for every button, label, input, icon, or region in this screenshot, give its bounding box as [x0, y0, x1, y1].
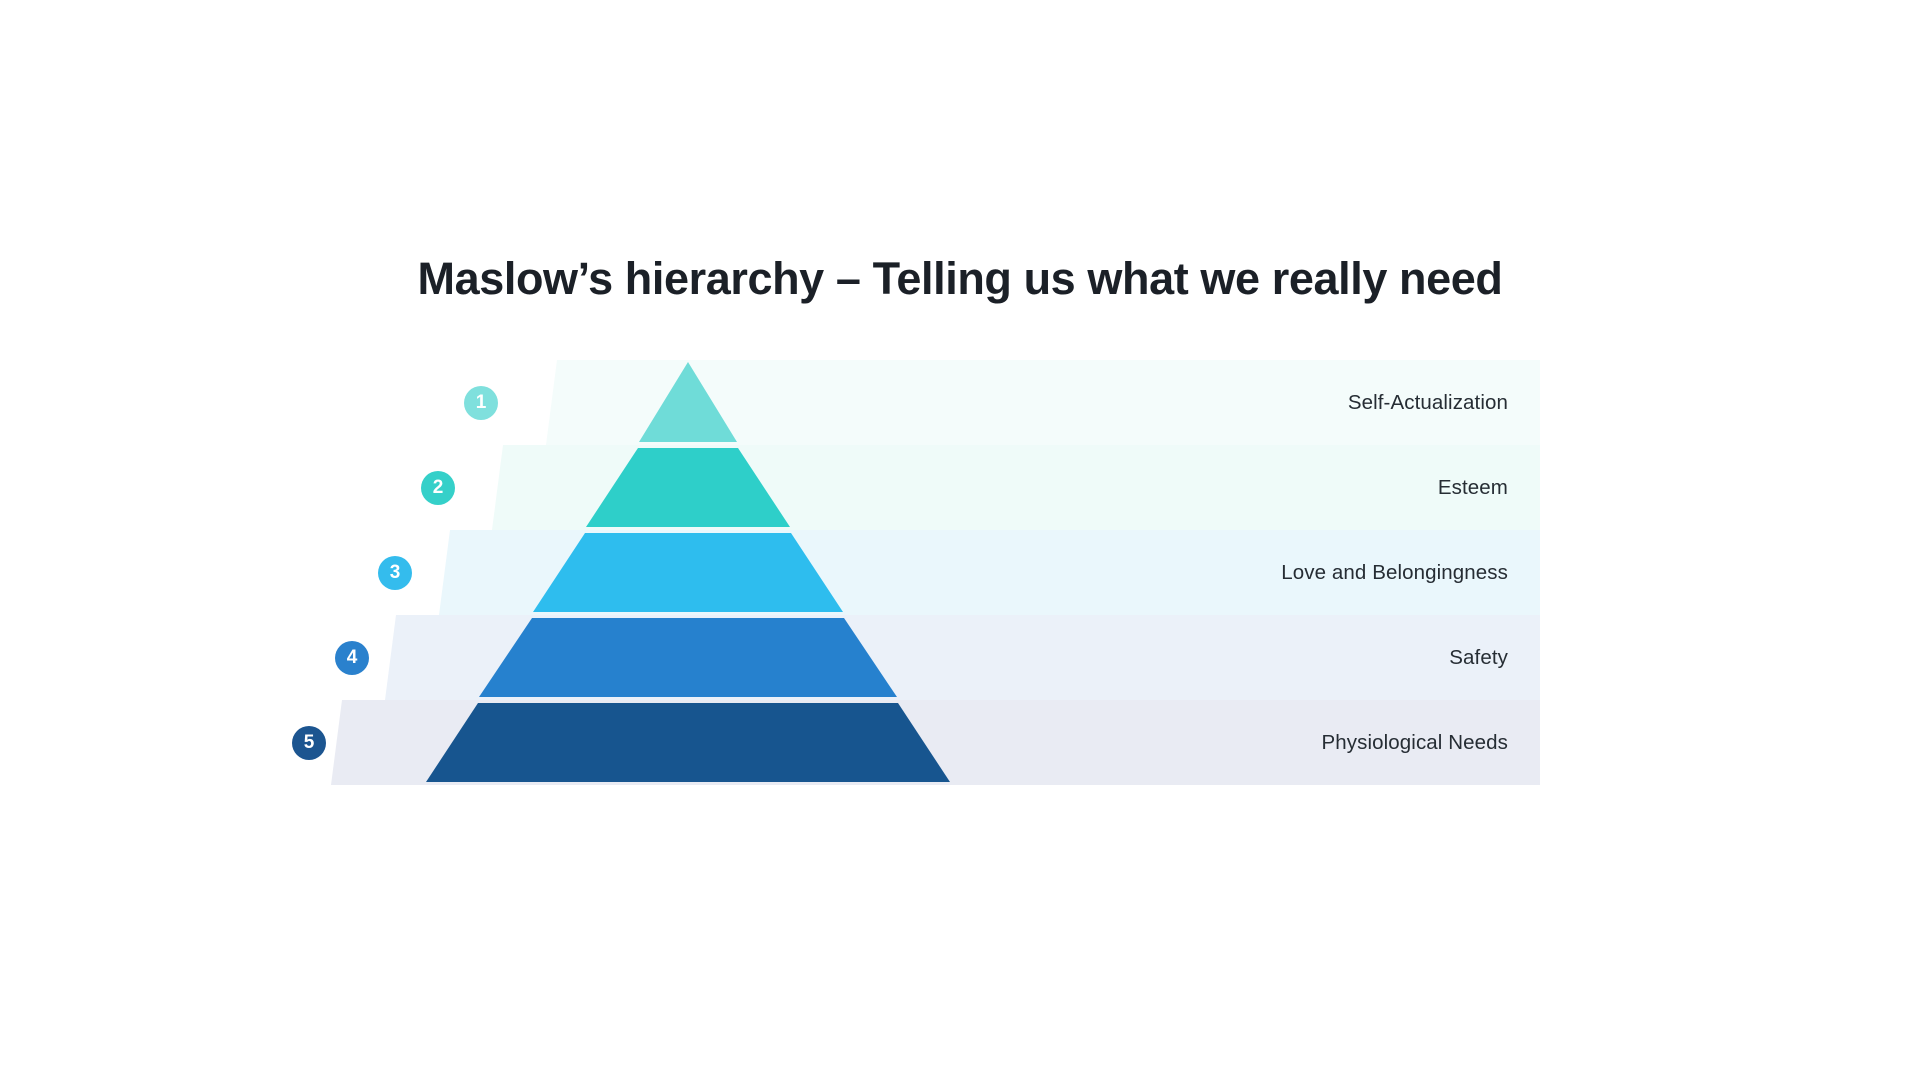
pyramid-level-5[interactable]: 5 Physiological Needs [300, 700, 1550, 785]
running-person-icon [668, 383, 708, 423]
level-2-rank-badge: 2 [421, 471, 455, 505]
pyramid-level-4[interactable]: 4 Safety [300, 615, 1550, 700]
pyramid-level-3[interactable]: 3 Love and Belongingness [300, 530, 1550, 615]
maslow-pyramid-diagram: 1 Self-Actualization 2 [300, 360, 1550, 820]
thumbs-up-icon [668, 468, 708, 508]
level-4-rank-number: 4 [347, 648, 358, 667]
level-2-rank-number: 2 [433, 478, 444, 497]
plate-cutlery-icon [668, 723, 708, 763]
home-icon [668, 638, 708, 678]
pyramid-level-2[interactable]: 2 Esteem [300, 445, 1550, 530]
level-4-rank-badge: 4 [335, 641, 369, 675]
level-1-rank-badge: 1 [464, 386, 498, 420]
level-4-label: Safety [1449, 646, 1508, 670]
level-1-rank-number: 1 [476, 393, 487, 412]
heart-icon [668, 553, 708, 593]
level-3-rank-badge: 3 [378, 556, 412, 590]
level-3-label: Love and Belongingness [1281, 561, 1508, 585]
page-title: Maslow’s hierarchy – Telling us what we … [0, 253, 1920, 305]
level-5-rank-number: 5 [304, 733, 315, 752]
diagram-canvas: Maslow’s hierarchy – Telling us what we … [0, 0, 1920, 1080]
level-5-label: Physiological Needs [1322, 731, 1509, 755]
level-5-rank-badge: 5 [292, 726, 326, 760]
level-2-label: Esteem [1438, 476, 1508, 500]
level-1-label: Self-Actualization [1348, 391, 1508, 415]
level-3-rank-number: 3 [390, 563, 401, 582]
pyramid-level-1[interactable]: 1 Self-Actualization [300, 360, 1550, 445]
